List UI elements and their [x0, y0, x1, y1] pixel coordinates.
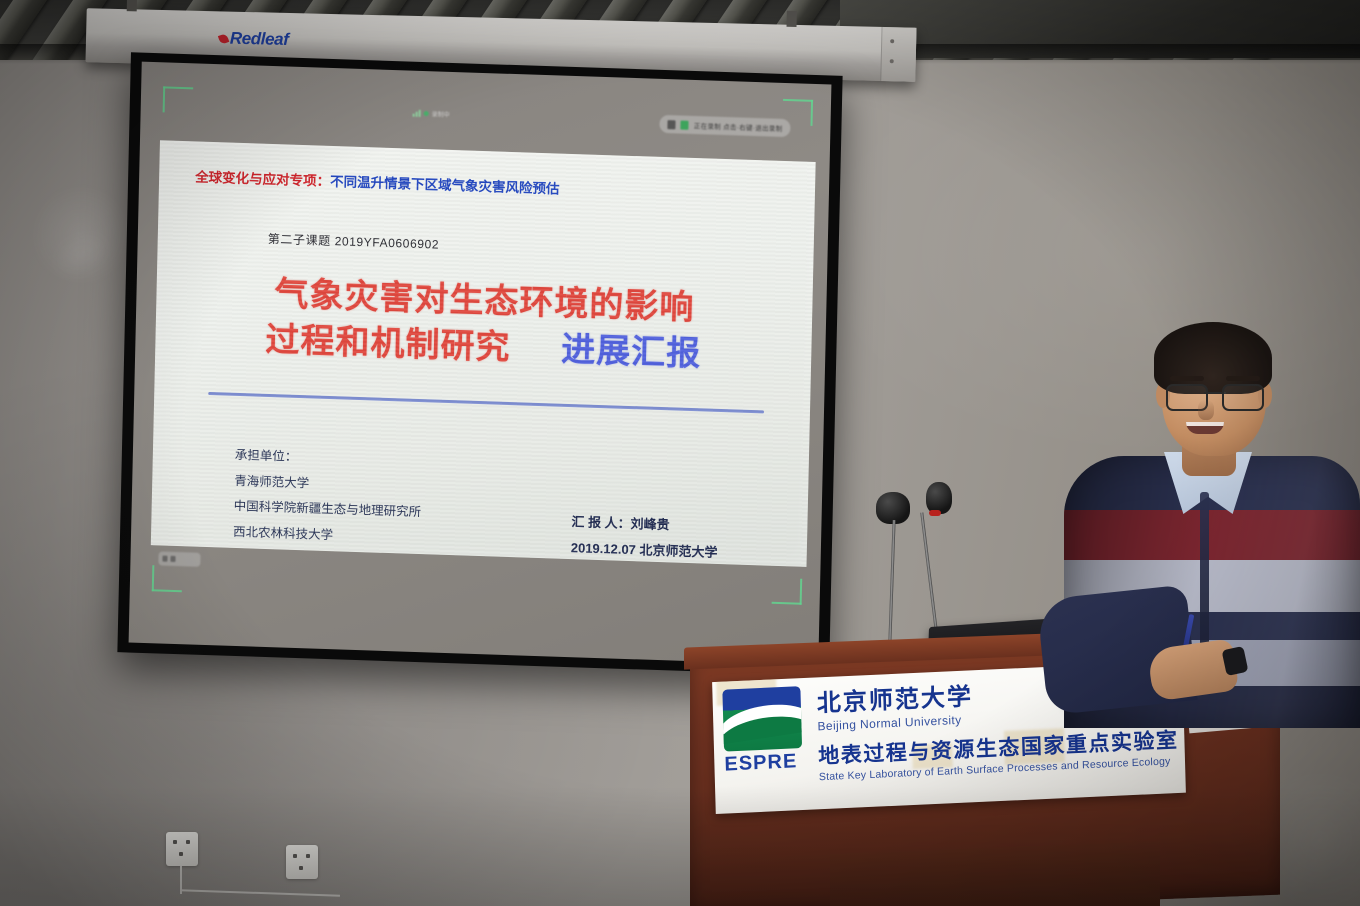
- recording-status-text: 录制中: [432, 109, 450, 119]
- sweater-placket: [1200, 492, 1209, 652]
- capture-corner-top-left-icon: [163, 86, 194, 113]
- slide-header: 全球变化与应对专项：不同温升情景下区域气象灾害风险预估: [195, 165, 785, 205]
- taskbar-mini-widget[interactable]: [158, 551, 200, 566]
- speaker-person: [1058, 296, 1360, 726]
- espre-logo-text: ESPRE: [724, 750, 807, 777]
- slide-subproject-code: 第二子课题 2019YFA0606902: [268, 230, 440, 253]
- signal-bars-icon: [413, 110, 421, 117]
- wall-outlet-left[interactable]: [166, 832, 198, 866]
- slide-header-program: 全球变化与应对专项：: [195, 169, 330, 188]
- capture-corner-bottom-right-icon: [772, 578, 803, 605]
- widget-icon-a: [162, 556, 167, 562]
- red-leaf-icon: [218, 33, 229, 44]
- slide-title-line2-report: 进展汇报: [561, 330, 702, 373]
- slide-header-topic: 不同温升情景下区域气象灾害风险预估: [330, 174, 560, 197]
- slide-title-line2-main: 过程和机制研究: [265, 320, 511, 366]
- espre-logo: ESPRE: [722, 686, 806, 776]
- capture-record-icon[interactable]: [681, 120, 689, 129]
- recording-dot-icon: [424, 111, 429, 116]
- speaker-brow-left: [1170, 376, 1204, 381]
- projection-surface: 录制中 正在录制 点击·右键·退出录制 全球变化与应对专项：不同温升情景下区域气…: [129, 62, 832, 666]
- speaker-brow-right: [1226, 376, 1260, 381]
- slide-title-divider: [208, 392, 764, 413]
- recording-status-indicator: 录制中: [413, 109, 450, 119]
- slide-presenter-block: 汇 报 人：刘峰贵 2019.12.07 北京师范大学: [571, 509, 719, 566]
- capture-settings-icon[interactable]: [668, 120, 676, 129]
- speaker-mouth: [1186, 422, 1224, 434]
- espre-logo-mark-icon: [722, 686, 802, 751]
- slide-affiliation-block: 承担单位： 青海师范大学 中国科学院新疆生态与地理研究所 西北农林科技大学: [233, 443, 423, 552]
- presentation-date-venue: 2019.12.07 北京师范大学: [571, 535, 718, 566]
- redleaf-brand-label: Redleaf: [219, 28, 289, 50]
- wall-outlet-right[interactable]: [286, 845, 318, 879]
- projection-screen-frame: 录制中 正在录制 点击·右键·退出录制 全球变化与应对专项：不同温升情景下区域气…: [117, 52, 842, 675]
- glasses-lens-right: [1222, 384, 1264, 411]
- eyeglasses-icon: [1166, 384, 1264, 408]
- speaker-nose: [1198, 400, 1214, 420]
- brand-text: Redleaf: [230, 29, 289, 49]
- presentation-slide: 全球变化与应对专项：不同温升情景下区域气象灾害风险预估 第二子课题 2019YF…: [151, 140, 816, 567]
- screen-capture-toolbar[interactable]: 正在录制 点击·右键·退出录制: [660, 115, 791, 137]
- slide-title-block: 气象灾害对生态环境的影响 过程和机制研究 进展汇报: [155, 268, 813, 381]
- widget-icon-b: [170, 556, 175, 562]
- housing-endcap: [880, 27, 916, 82]
- podium-base: [830, 841, 1160, 906]
- microphone-ring-right: [929, 510, 941, 516]
- presentation-photo-scene: Redleaf 录制中 正在录制 点击·右键·退出录制: [0, 0, 1360, 906]
- capture-corner-bottom-left-icon: [152, 565, 183, 592]
- capture-toolbar-text: 正在录制 点击·右键·退出录制: [694, 120, 783, 133]
